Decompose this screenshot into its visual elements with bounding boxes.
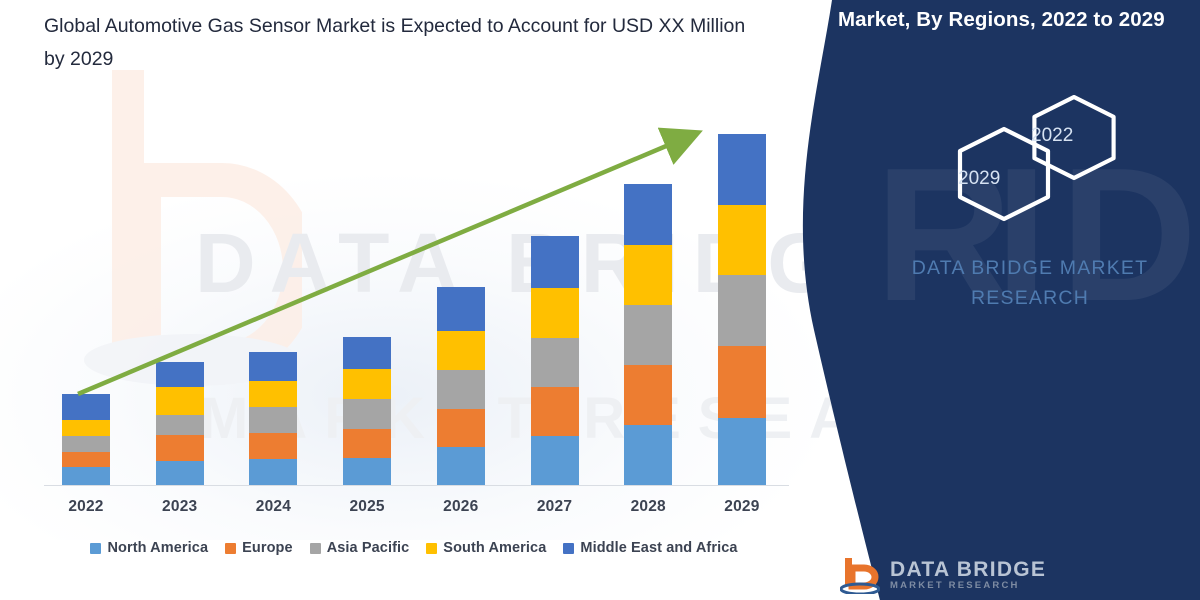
segment-north-america: [249, 459, 297, 485]
panel-title: Market, By Regions, 2022 to 2029: [838, 6, 1193, 34]
bridge-logo-icon: [840, 556, 880, 594]
x-tick-2027: 2027: [519, 498, 591, 516]
segment-south-america: [249, 381, 297, 407]
bar-column-2024[interactable]: [249, 352, 297, 485]
segment-europe: [156, 435, 204, 461]
segment-north-america: [343, 458, 391, 485]
segment-south-america: [718, 205, 766, 275]
panel-brand-text: DATA BRIDGE MARKET RESEARCH: [880, 253, 1180, 313]
segment-europe: [718, 346, 766, 418]
segment-north-america: [62, 467, 110, 485]
segment-europe: [343, 429, 391, 458]
stacked-bar-group: [44, 118, 784, 485]
bar-column-2023[interactable]: [156, 362, 204, 485]
x-axis-line: [44, 485, 789, 486]
segment-middle-east-and-africa: [343, 337, 391, 369]
legend-label: Asia Pacific: [327, 540, 410, 556]
segment-asia-pacific: [718, 275, 766, 346]
legend-label: South America: [443, 540, 546, 556]
legend-swatch-icon: [225, 543, 236, 554]
legend-item-asia-pacific[interactable]: Asia Pacific: [310, 540, 410, 556]
x-tick-2022: 2022: [50, 498, 122, 516]
segment-north-america: [531, 436, 579, 485]
segment-middle-east-and-africa: [437, 287, 485, 331]
legend-label: North America: [107, 540, 208, 556]
bar-column-2028[interactable]: [624, 184, 672, 485]
footer-logo-name: DATA BRIDGE: [890, 560, 1046, 580]
segment-asia-pacific: [437, 370, 485, 409]
hexagon-label-2022: 2022: [1031, 125, 1073, 147]
bar-column-2029[interactable]: [718, 134, 766, 485]
segment-south-america: [156, 387, 204, 415]
legend-swatch-icon: [426, 543, 437, 554]
segment-middle-east-and-africa: [156, 362, 204, 387]
segment-asia-pacific: [343, 399, 391, 429]
x-axis-tick-labels: 2022 2023 2024 2025 2026 2027 2028 2029: [44, 498, 784, 516]
legend-label: Middle East and Africa: [580, 540, 737, 556]
x-tick-2024: 2024: [237, 498, 309, 516]
footer-logo: DATA BRIDGE MARKET RESEARCH: [840, 556, 1046, 594]
legend-swatch-icon: [310, 543, 321, 554]
segment-europe: [62, 452, 110, 467]
segment-south-america: [531, 288, 579, 338]
legend-item-north-america[interactable]: North America: [90, 540, 208, 556]
segment-north-america: [718, 418, 766, 485]
segment-middle-east-and-africa: [718, 134, 766, 205]
segment-asia-pacific: [624, 305, 672, 365]
legend-item-middle-east-and-africa[interactable]: Middle East and Africa: [563, 540, 737, 556]
x-tick-2025: 2025: [331, 498, 403, 516]
segment-south-america: [62, 420, 110, 436]
segment-asia-pacific: [62, 436, 110, 452]
legend-item-europe[interactable]: Europe: [225, 540, 293, 556]
panel-brand-line2: RESEARCH: [971, 287, 1089, 309]
segment-south-america: [437, 331, 485, 370]
segment-middle-east-and-africa: [531, 236, 579, 288]
segment-middle-east-and-africa: [624, 184, 672, 245]
segment-asia-pacific: [531, 338, 579, 387]
segment-europe: [531, 387, 579, 436]
legend-label: Europe: [242, 540, 293, 556]
chart-title: Global Automotive Gas Sensor Market is E…: [44, 10, 764, 76]
bar-column-2026[interactable]: [437, 287, 485, 485]
x-tick-2026: 2026: [425, 498, 497, 516]
bar-column-2025[interactable]: [343, 337, 391, 485]
segment-middle-east-and-africa: [249, 352, 297, 381]
segment-europe: [437, 409, 485, 447]
legend-swatch-icon: [563, 543, 574, 554]
legend-swatch-icon: [90, 543, 101, 554]
hexagon-label-2029: 2029: [958, 168, 1000, 190]
hexagon-pair-icon: [920, 95, 1140, 230]
segment-south-america: [343, 369, 391, 399]
panel-brand-line1: DATA BRIDGE MARKET: [912, 257, 1149, 279]
segment-north-america: [156, 461, 204, 485]
x-tick-2029: 2029: [706, 498, 778, 516]
legend-item-south-america[interactable]: South America: [426, 540, 546, 556]
x-tick-2028: 2028: [612, 498, 684, 516]
segment-europe: [249, 433, 297, 459]
segment-asia-pacific: [156, 415, 204, 435]
infographic-canvas: DATA BRIDGE MARKET RESEARCH Global Autom…: [0, 0, 1200, 600]
x-tick-2023: 2023: [144, 498, 216, 516]
footer-logo-sub: MARKET RESEARCH: [890, 580, 1046, 591]
segment-middle-east-and-africa: [62, 394, 110, 420]
segment-north-america: [437, 447, 485, 485]
bar-column-2027[interactable]: [531, 236, 579, 485]
segment-south-america: [624, 245, 672, 305]
chart-legend: North America Europe Asia Pacific South …: [44, 540, 784, 556]
segment-europe: [624, 365, 672, 425]
segment-north-america: [624, 425, 672, 485]
bar-column-2022[interactable]: [62, 394, 110, 485]
segment-asia-pacific: [249, 407, 297, 433]
